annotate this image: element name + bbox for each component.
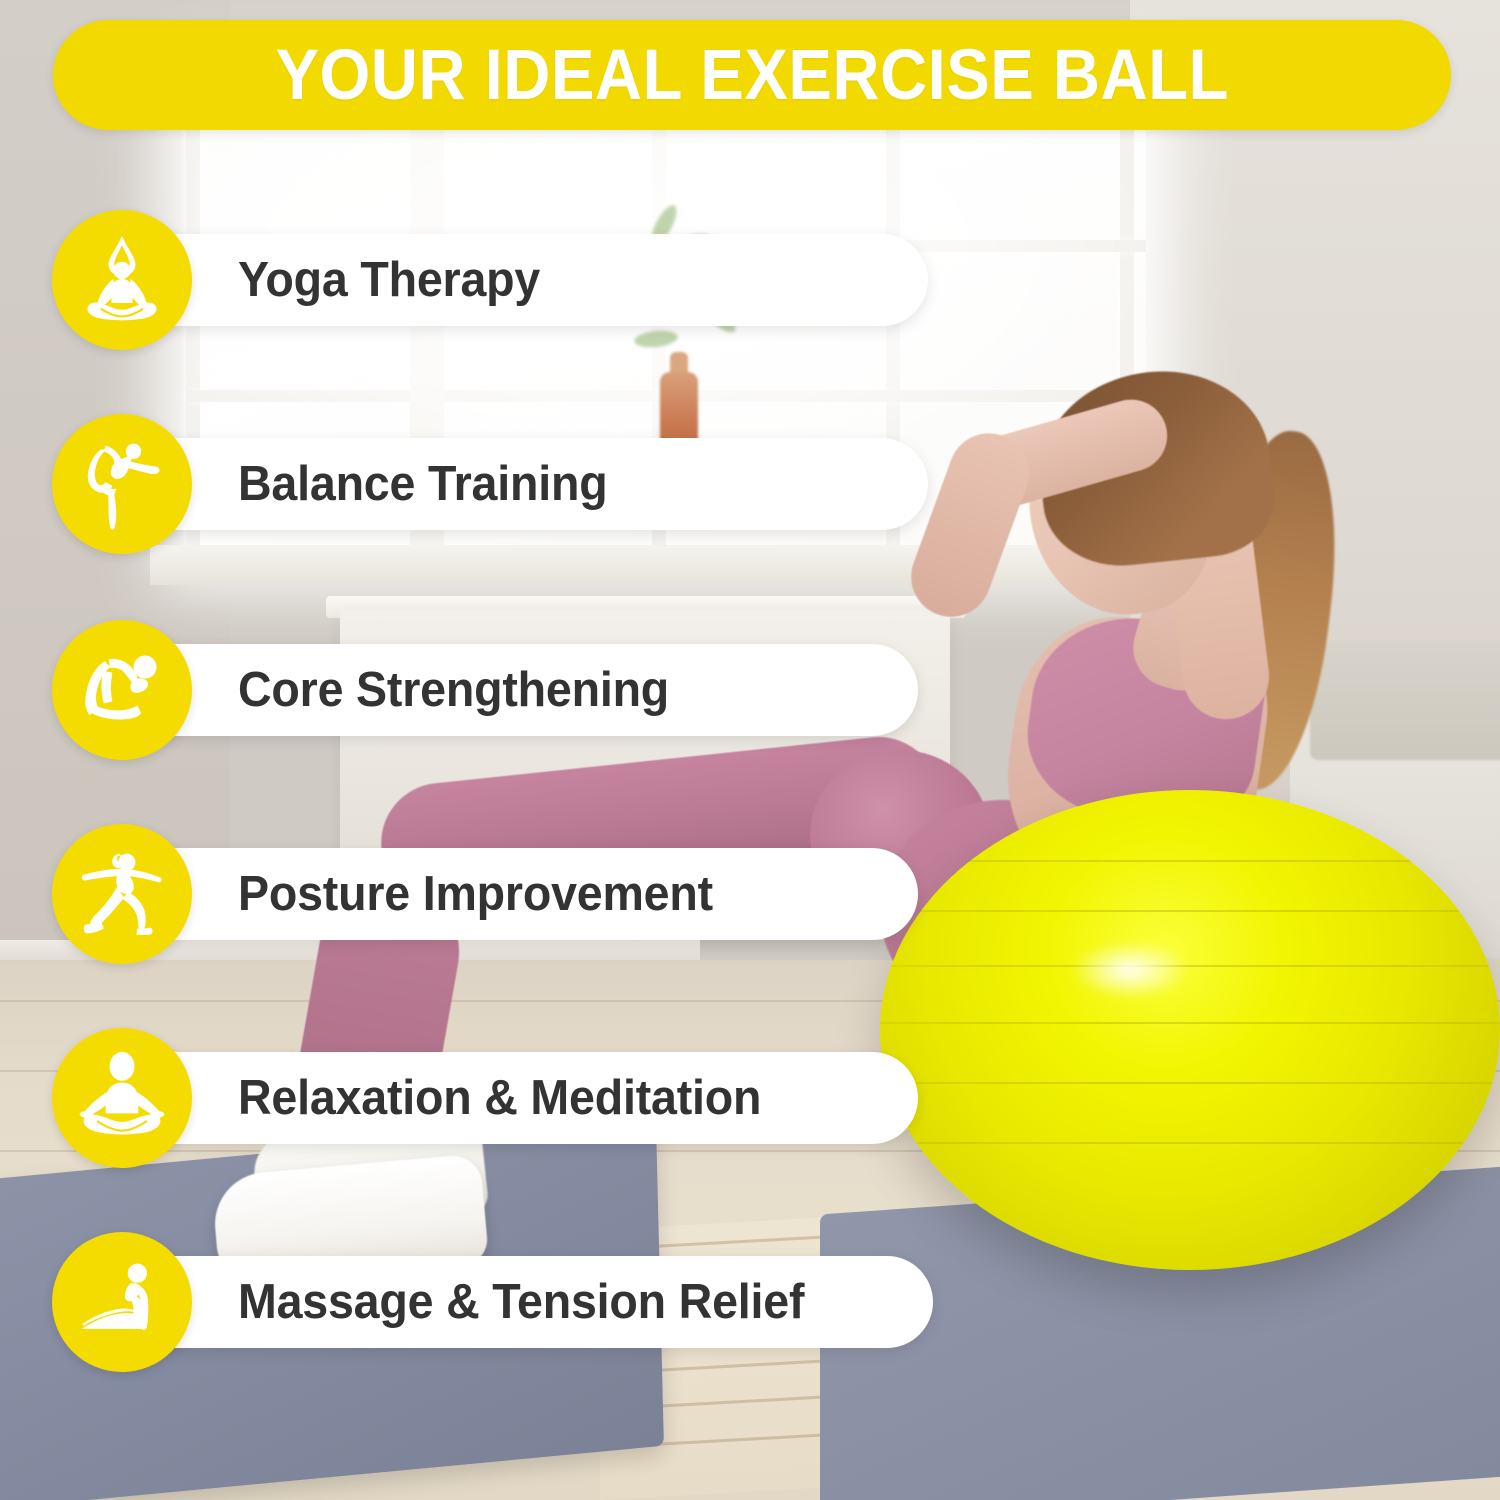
massage-therapy-icon	[52, 1232, 192, 1372]
feature-list: Yoga Therapy Bala	[0, 0, 1500, 1500]
feature-label: Core Strengthening	[238, 662, 669, 718]
dancer-balance-pose-icon	[52, 414, 192, 554]
feature-label: Posture Improvement	[238, 866, 713, 922]
feature-pill[interactable]: Balance Training	[128, 438, 928, 530]
seated-meditation-icon	[52, 1028, 192, 1168]
feature-pill[interactable]: Relaxation & Meditation	[128, 1052, 918, 1144]
yoga-lotus-arms-up-icon	[52, 210, 192, 350]
warrior-posture-pose-icon	[52, 824, 192, 964]
feature-label: Yoga Therapy	[238, 252, 540, 308]
feature-label: Massage & Tension Relief	[238, 1274, 804, 1330]
core-crunch-pose-icon	[52, 620, 192, 760]
feature-label: Relaxation & Meditation	[238, 1070, 761, 1126]
feature-label: Balance Training	[238, 456, 607, 512]
feature-pill[interactable]: Core Strengthening	[128, 644, 918, 736]
feature-pill[interactable]: Yoga Therapy	[128, 234, 928, 326]
feature-pill[interactable]: Posture Improvement	[128, 848, 918, 940]
feature-pill[interactable]: Massage & Tension Relief	[128, 1256, 933, 1348]
infographic-canvas: YOUR IDEAL EXERCISE BALL Yoga Therapy	[0, 0, 1500, 1500]
